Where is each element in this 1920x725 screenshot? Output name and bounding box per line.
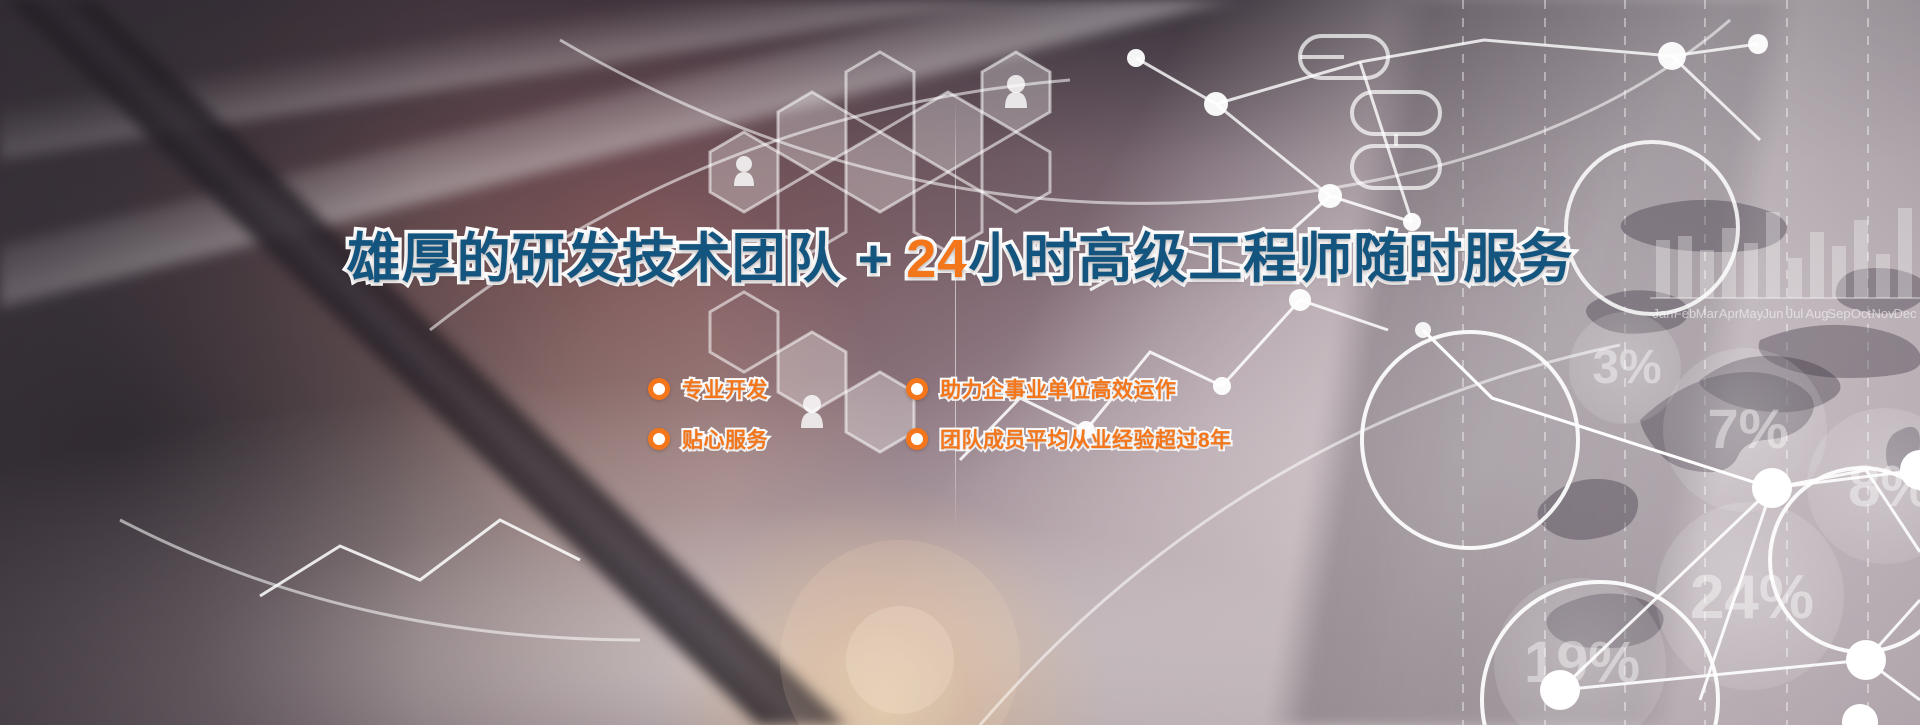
headline-plus-symbol: +: [842, 229, 907, 289]
banner-headline: 雄厚的研发技术团队 + 24小时高级工程师随时服务: [0, 232, 1920, 286]
bullet-item-efficient-operation: 助力企事业单位高效运作: [906, 374, 1268, 404]
hero-banner: 3% 7% 8% 24% 19%: [0, 0, 1920, 725]
headline-segment-1: 雄厚的研发技术团队: [347, 229, 842, 289]
bullet-dot-icon: [648, 378, 670, 400]
bullet-dot-icon: [906, 378, 928, 400]
bullet-dot-icon: [906, 428, 928, 450]
bullet-label: 专业开发: [682, 374, 768, 404]
bullet-item-team-experience: 团队成员平均从业经验超过8年: [906, 424, 1268, 454]
bullet-item-professional-development: 专业开发: [648, 374, 906, 404]
bullet-label: 助力企事业单位高效运作: [940, 374, 1177, 404]
banner-content: 雄厚的研发技术团队 + 24小时高级工程师随时服务 专业开发 助力企事业单位高效…: [0, 0, 1920, 725]
headline-24-accent: 24: [906, 229, 968, 289]
bullet-item-attentive-service: 贴心服务: [648, 424, 906, 454]
bullet-label: 贴心服务: [682, 424, 768, 454]
bullet-row: 专业开发 助力企事业单位高效运作: [648, 364, 1268, 414]
headline-segment-2: 小时高级工程师随时服务: [968, 229, 1573, 289]
bullet-dot-icon: [648, 428, 670, 450]
bullet-label: 团队成员平均从业经验超过8年: [940, 424, 1232, 454]
bullet-row: 贴心服务 团队成员平均从业经验超过8年: [648, 414, 1268, 464]
banner-bullet-list: 专业开发 助力企事业单位高效运作 贴心服务 团队成员平均从业经验超过8年: [648, 364, 1268, 464]
